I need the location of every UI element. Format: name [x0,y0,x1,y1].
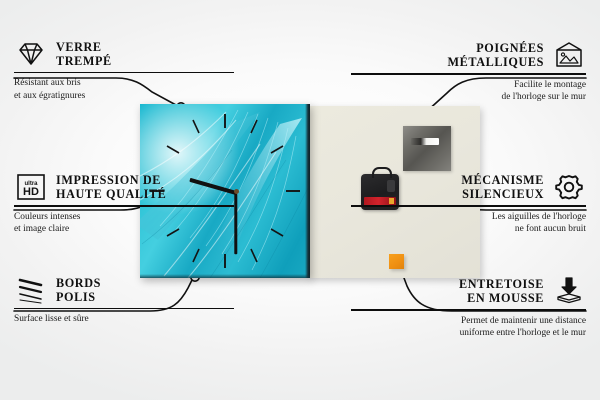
feature-poignees-metalliques: POIGNÉES MÉTALLIQUES Facilite le montage… [351,40,586,103]
tick-4 [271,229,283,236]
feature-description: Les aiguilles de l'horloge ne font aucun… [351,211,586,236]
hd-label: HD [23,186,39,198]
feature-verre-trempe: VERRE TREMPÉ Résistant aux bris et aux é… [14,40,234,102]
tick-1 [251,120,257,133]
tick-5 [251,249,257,262]
title-rule [14,72,234,74]
feature-impression-haute-qualite: ultra HD IMPRESSION DE HAUTE QUALITÉ Cou… [14,172,234,235]
feature-title: MÉCANISME SILENCIEUX [461,173,544,202]
feature-title: POIGNÉES MÉTALLIQUES [448,41,544,70]
title-rule [14,205,234,207]
tick-11 [193,120,199,133]
polished-edge-icon [14,276,48,304]
feature-description: Couleurs intenses et image claire [14,211,234,236]
title-rule [14,308,234,310]
feature-description: Permet de maintenir une distance uniform… [351,315,586,340]
tick-2 [271,146,283,153]
feature-title: BORDS POLIS [56,276,101,305]
clock-hub [234,189,239,194]
hanger-slot [411,138,439,145]
feature-entretoise-en-mousse: ENTRETOISE EN MOUSSE Permet de maintenir… [351,276,586,339]
feature-mecanisme-silencieux: MÉCANISME SILENCIEUX Les aiguilles de l'… [351,172,586,235]
feature-description: Résistant aux bris et aux égratignures [14,77,234,102]
diamond-icon [14,40,48,68]
gear-icon [552,172,586,202]
clock-right-bevel [305,104,310,278]
minute-hand [235,192,238,254]
tick-10 [167,146,179,153]
metal-hanging-plate [403,126,451,171]
title-rule [351,205,586,207]
title-rule [351,309,586,311]
wall-mount-frame-icon [552,40,586,70]
feature-title: VERRE TREMPÉ [56,40,112,69]
feature-bords-polis: BORDS POLIS Surface lisse et sûre [14,276,234,326]
ultra-hd-badge-icon: ultra HD [14,172,48,202]
title-rule [351,73,586,75]
feature-description: Surface lisse et sûre [14,313,234,325]
foam-spacer [389,254,404,269]
feature-title: IMPRESSION DE HAUTE QUALITÉ [56,173,166,202]
arrow-down-stack-icon [552,276,586,306]
tick-7 [193,249,199,262]
feature-title: ENTRETOISE EN MOUSSE [459,277,544,306]
feature-description: Facilite le montage de l'horloge sur le … [351,79,586,104]
infographic-canvas: VERRE TREMPÉ Résistant aux bris et aux é… [0,0,600,400]
